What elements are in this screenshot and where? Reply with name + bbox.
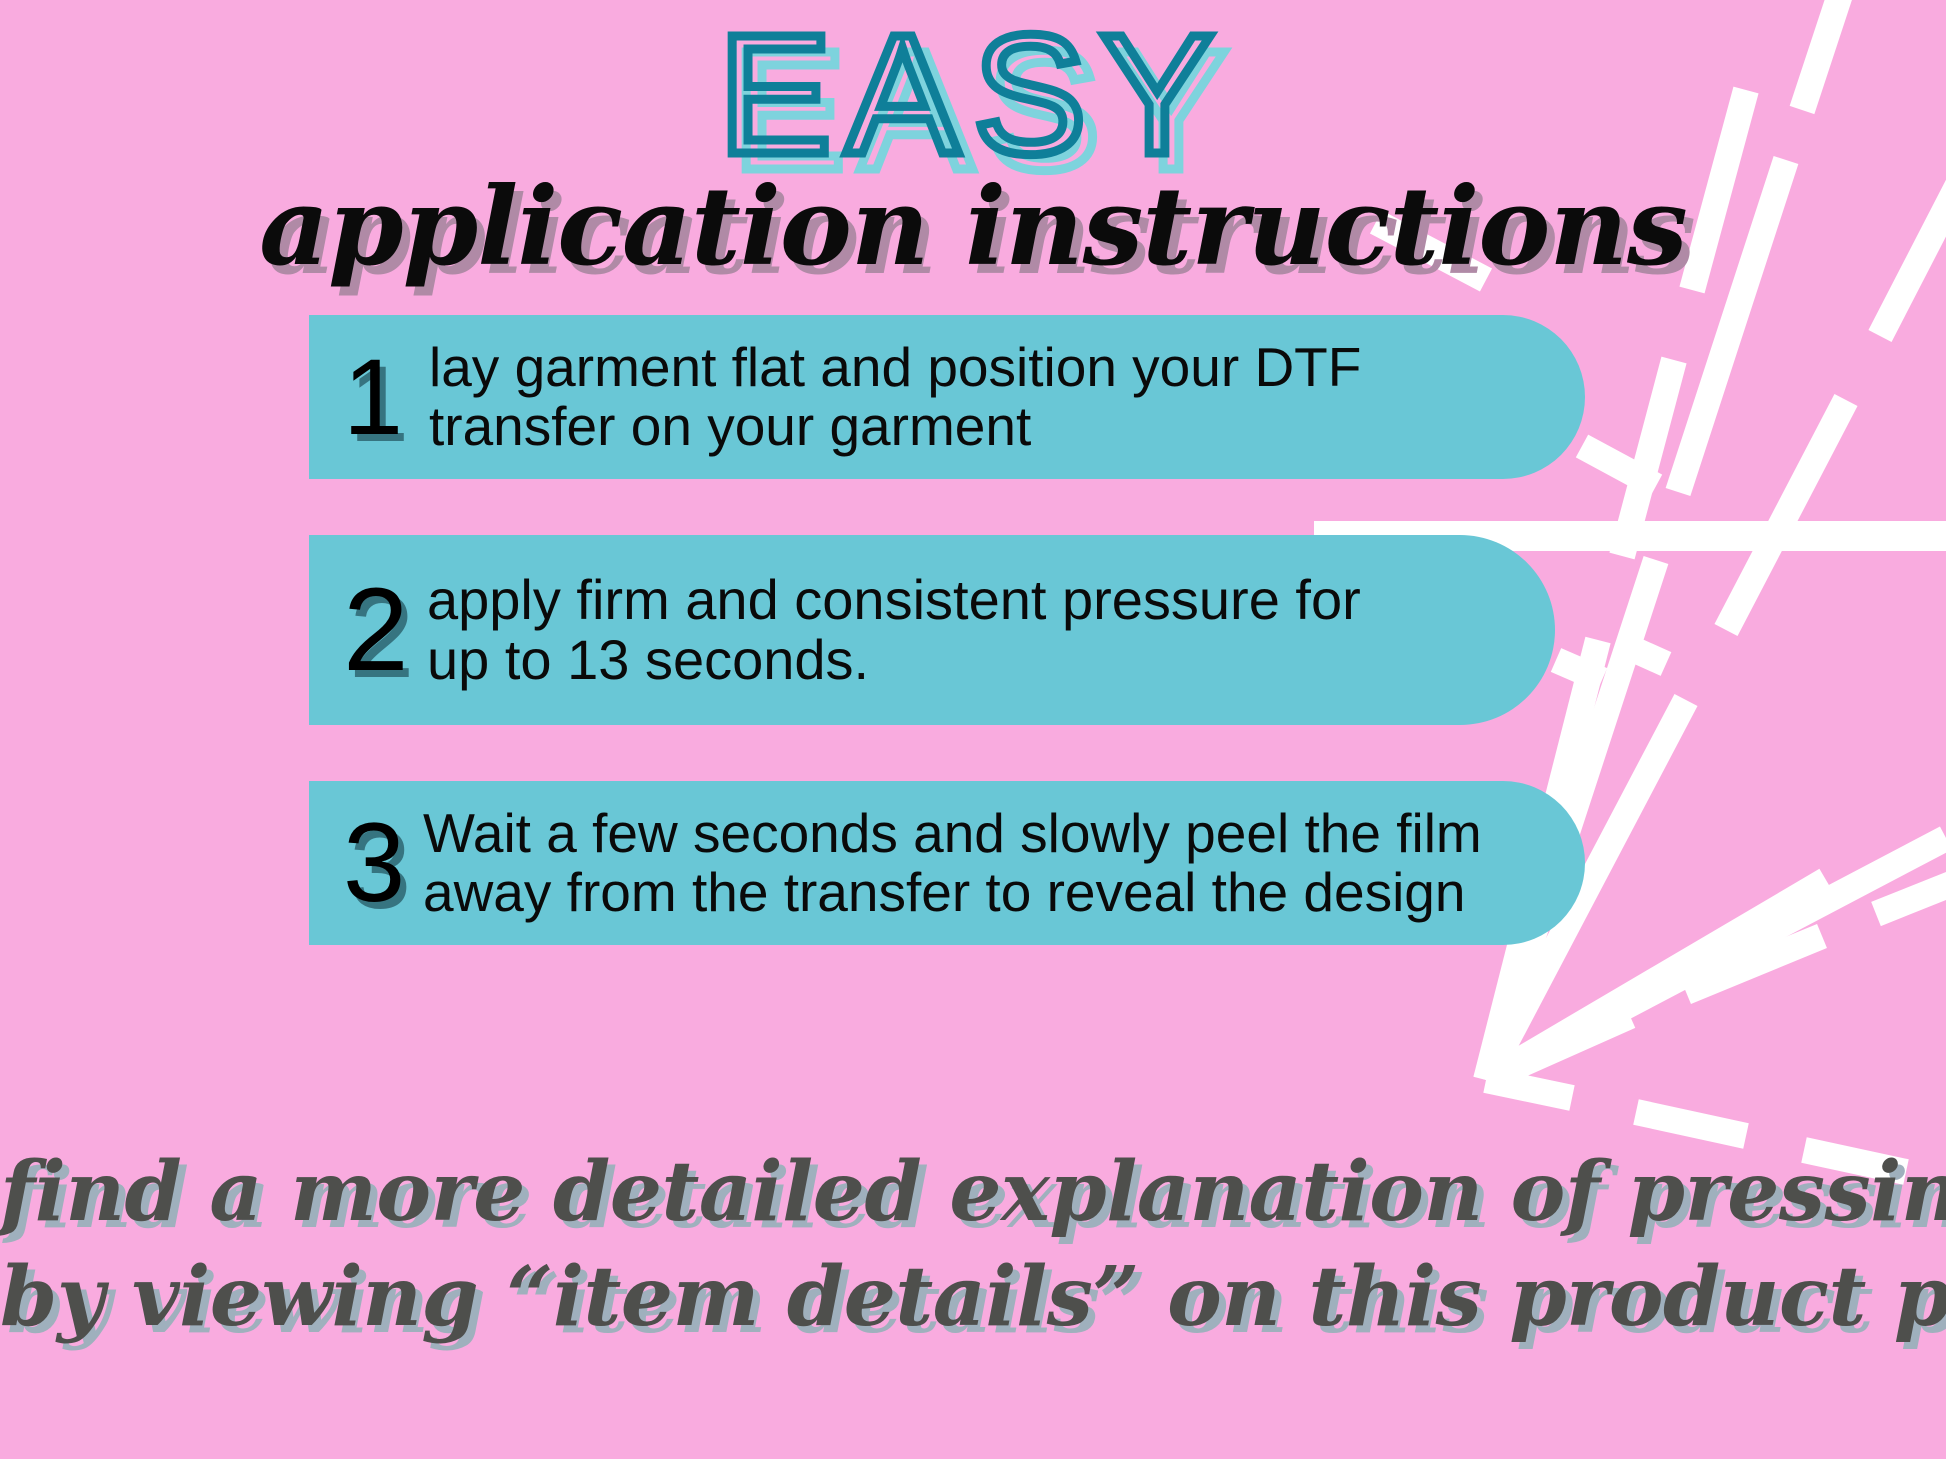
footer-line-1: find a more detailed explanation of pres… bbox=[0, 1140, 1946, 1245]
step-text-1: lay garment flat and position your DTF t… bbox=[429, 338, 1585, 457]
headline-script: application instructions bbox=[0, 168, 1946, 287]
headline-script-text: application instructions bbox=[259, 168, 1687, 287]
step-number-1: 1 bbox=[343, 343, 429, 451]
step-item-1: 1 lay garment flat and position your DTF… bbox=[309, 315, 1585, 479]
headline-easy-text: EASY bbox=[718, 10, 1228, 180]
step-number-2: 2 bbox=[343, 571, 427, 689]
poster-canvas: EASY EASY application instructions 1 lay… bbox=[0, 0, 1946, 1459]
steps-list: 1 lay garment flat and position your DTF… bbox=[309, 315, 1585, 1001]
footer-note: find a more detailed explanation of pres… bbox=[0, 1140, 1946, 1350]
step-text-3: Wait a few seconds and slowly peel the f… bbox=[423, 804, 1585, 923]
step-text-2: apply firm and consistent pressure for u… bbox=[427, 570, 1555, 691]
step-item-3: 3 Wait a few seconds and slowly peel the… bbox=[309, 781, 1585, 945]
step-number-3: 3 bbox=[343, 807, 423, 919]
footer-line-2: by viewing “item details” on this produc… bbox=[0, 1245, 1946, 1350]
headline-easy: EASY EASY bbox=[0, 10, 1946, 180]
step-item-2: 2 apply firm and consistent pressure for… bbox=[309, 535, 1555, 725]
